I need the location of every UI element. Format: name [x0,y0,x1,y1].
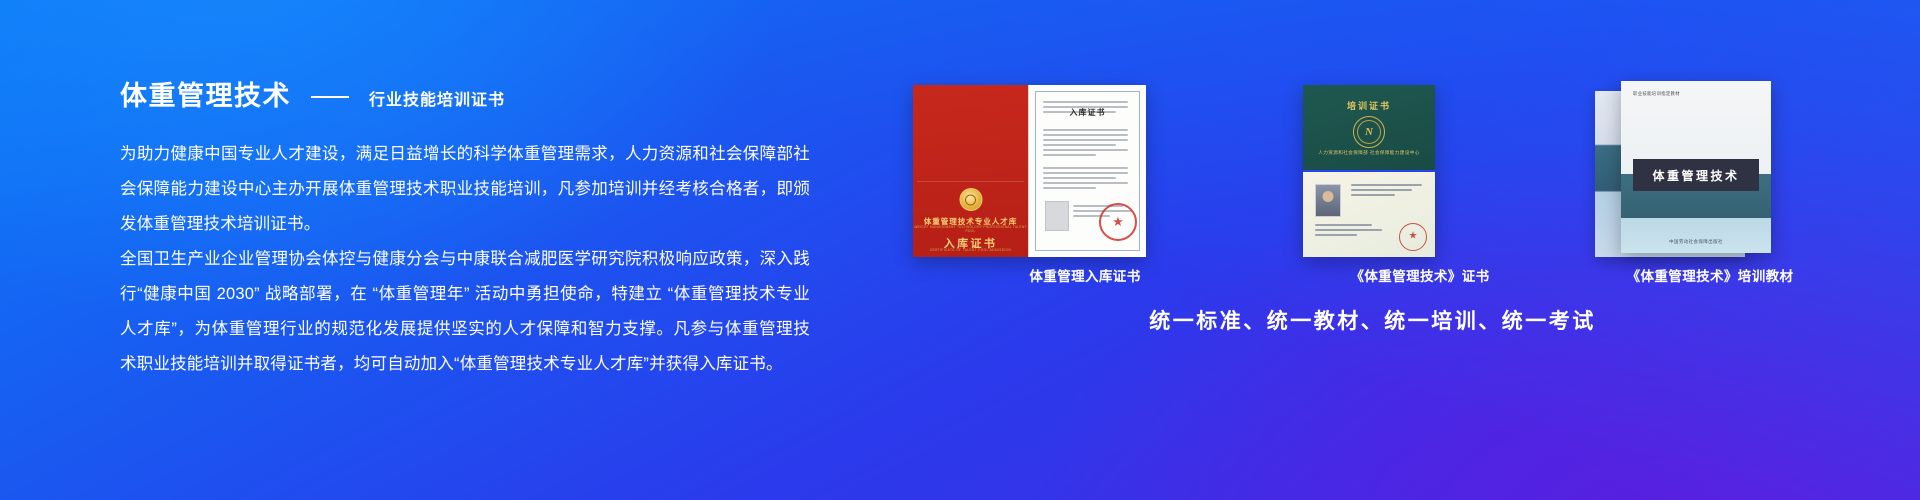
certificate-gallery: 体重管理技术专业人才库 WEIGHT MANAGEMENT TECHNOLOGY… [905,85,1920,265]
page-text-lines-body [1043,167,1132,192]
textbook-front-cover: 职业技能培训指定教材 体重管理技术 中国劳动社会保障出版社 [1621,81,1771,253]
emblem-letter: N [1365,126,1373,138]
page-text-lines-top [1043,101,1132,105]
cover-fold-line [917,181,1024,182]
training-cover-title: 培训证书 [1303,99,1435,112]
id-field-lines [1315,224,1385,239]
promo-banner: 体重管理技术 行业技能培训证书 为助力健康中国专业人才建设，满足日益增长的科学体… [0,0,1920,500]
certificate-cover-green: 培训证书 N 人力资源和社会保障部 社会保障能力建设中心 [1303,85,1435,170]
caption-library-cert: 体重管理入库证书 [905,265,1265,285]
certificate-cover-red: 体重管理技术专业人才库 WEIGHT MANAGEMENT TECHNOLOGY… [913,85,1028,257]
avatar [1315,184,1341,217]
id-text-lines [1351,184,1425,199]
heading-row: 体重管理技术 行业技能培训证书 [120,78,810,114]
inner-page-title: 入库证书 [1029,107,1146,118]
body-copy: 为助力健康中国专业人才建设，满足日益增长的科学体重管理需求，人力资源和社会保障部… [120,137,810,382]
page-text-lines-mid [1043,129,1132,159]
right-content: 体重管理技术专业人才库 WEIGHT MANAGEMENT TECHNOLOGY… [905,0,1920,500]
page-title: 体重管理技术 [120,78,291,114]
photo-placeholder [1045,201,1069,231]
red-stamp-icon [1099,203,1137,241]
red-stamp-icon [1399,223,1427,251]
textbook-publisher: 中国劳动社会保障出版社 [1621,239,1771,245]
training-cover-org: 人力资源和社会保障部 社会保障能力建设中心 [1303,149,1435,156]
paragraph-2: 全国卫生产业企业管理协会体控与健康分会与中康联合减肥医学研究院积极响应政策，深入… [120,242,810,382]
left-content: 体重管理技术 行业技能培训证书 为助力健康中国专业人才建设，满足日益增长的科学体… [120,78,810,382]
textbook-card: 职业技能培训指定教材 体重管理技术 中国劳动社会保障出版社 [1595,81,1781,261]
title-divider [311,96,349,98]
emblem-icon: N [1353,116,1385,148]
page-subtitle: 行业技能培训证书 [369,83,505,119]
caption-training-cert: 《体重管理技术》证书 [1295,265,1545,285]
certificate-id-page [1303,172,1435,257]
tagline: 统一标准、统一教材、统一培训、统一考试 [905,305,1840,335]
certificate-inner-page: 入库证书 [1028,85,1146,257]
textbook-title-plate: 体重管理技术 [1633,159,1759,191]
cover-title-en: CERTIFICATE OF TALENT POOL ADMISSION [913,248,1028,252]
caption-row: 体重管理入库证书 《体重管理技术》证书 《体重管理技术》培训教材 [905,265,1920,287]
textbook-title: 体重管理技术 [1652,167,1739,184]
certificate-card-training: 培训证书 N 人力资源和社会保障部 社会保障能力建设中心 [1303,85,1435,257]
cover-org-name-en: WEIGHT MANAGEMENT TECHNOLOGY PROFESSIONA… [913,225,1028,233]
caption-textbook: 《体重管理技术》培训教材 [1545,265,1875,285]
cover-band-light [1621,218,1771,253]
certificate-card-library: 体重管理技术专业人才库 WEIGHT MANAGEMENT TECHNOLOGY… [913,85,1145,257]
gold-seal-icon [959,188,982,211]
textbook-top-note: 职业技能培训指定教材 [1633,91,1680,97]
paragraph-1: 为助力健康中国专业人才建设，满足日益增长的科学体重管理需求，人力资源和社会保障部… [120,137,810,242]
